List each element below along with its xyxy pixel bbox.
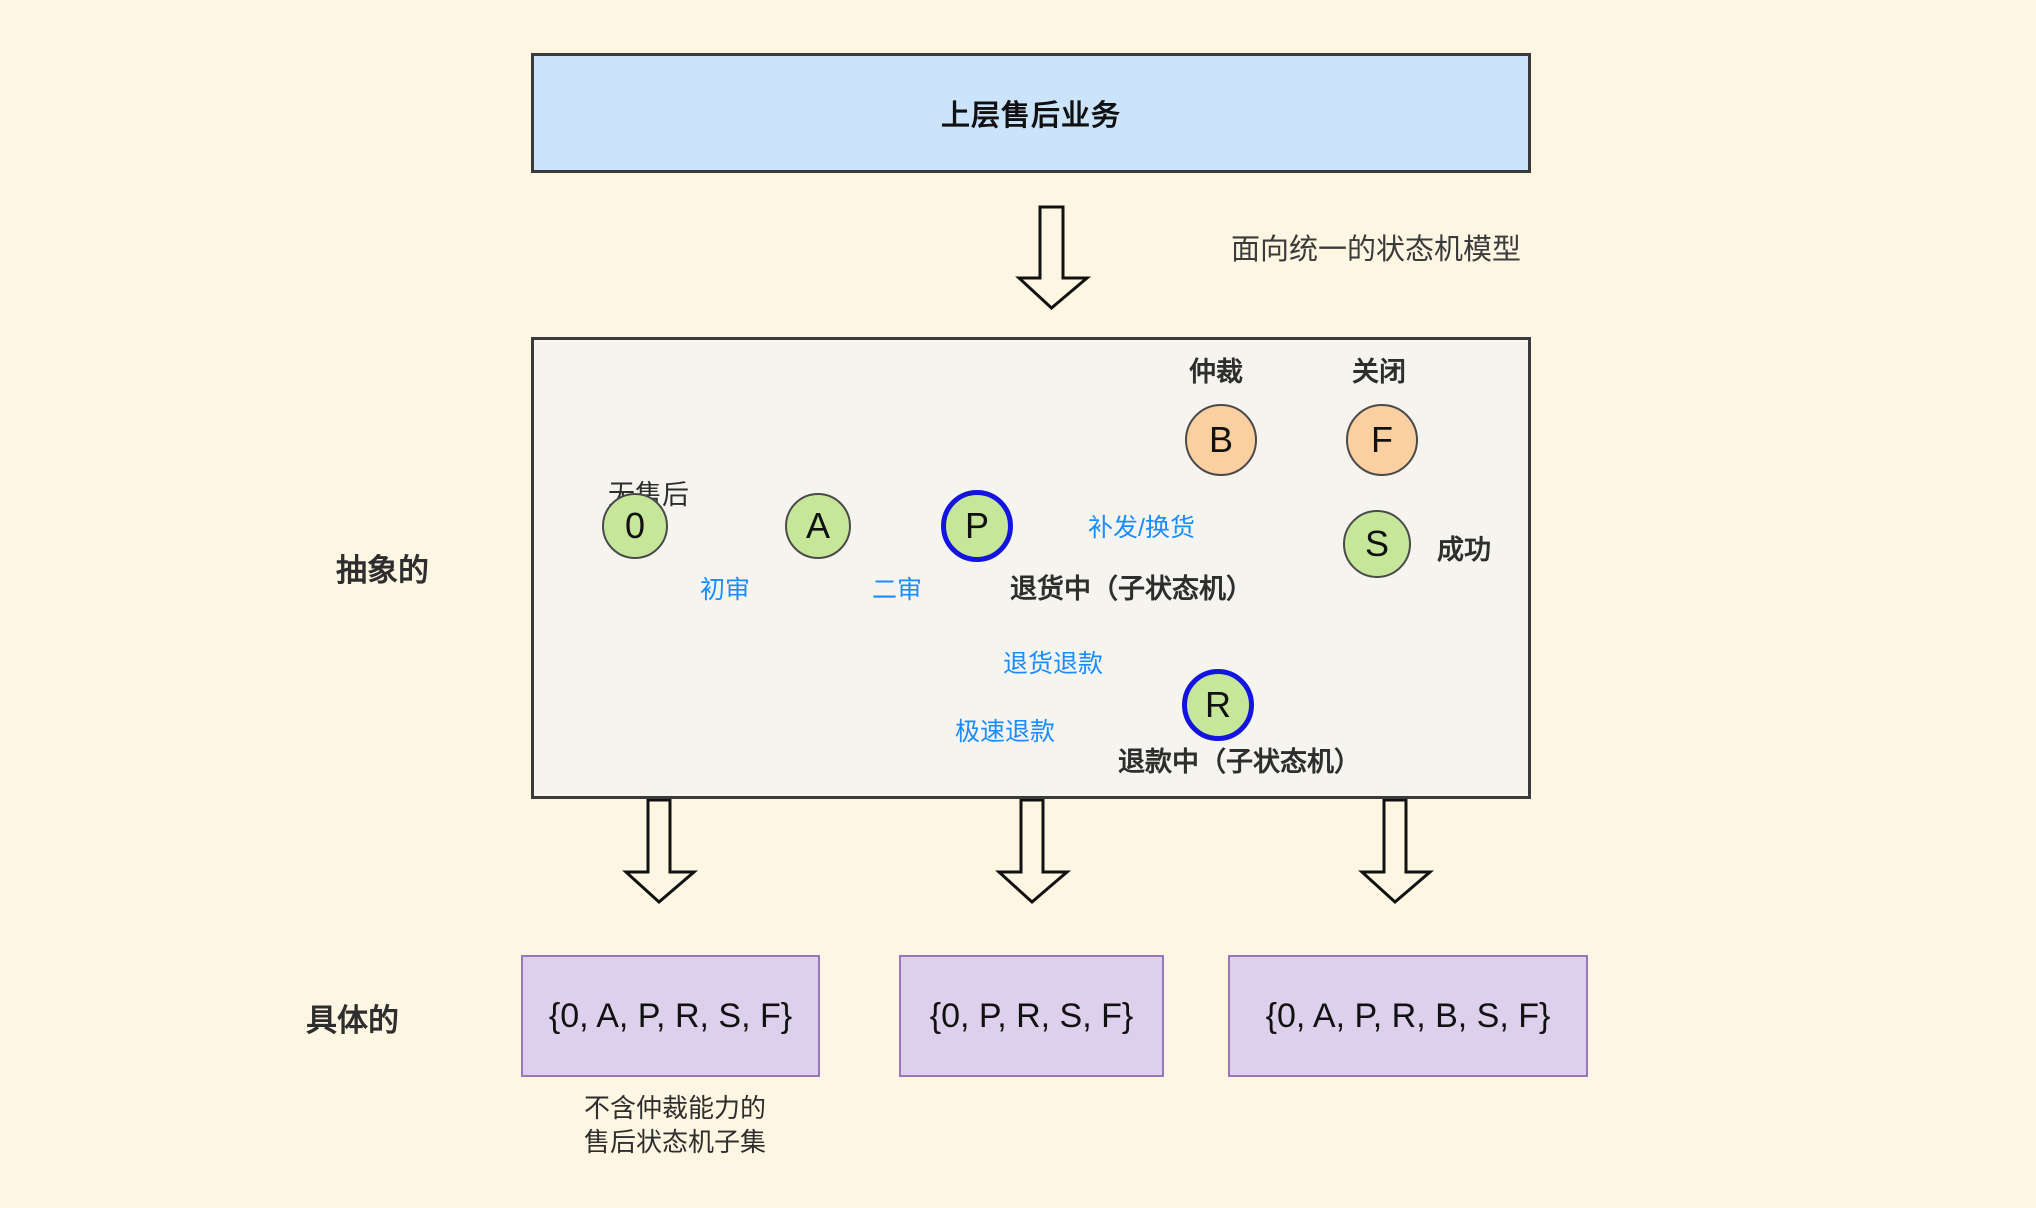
transition-label-first-review: 初审 xyxy=(700,570,750,606)
state-node-P-label: P xyxy=(965,505,989,547)
transition-label-instant-refund: 极速退款 xyxy=(955,712,1055,748)
state-caption-refunding: 退款中（子状态机） xyxy=(1118,740,1361,779)
concrete-set-caption-line2: 售后状态机子集 xyxy=(545,1125,805,1159)
state-node-S[interactable]: S xyxy=(1343,510,1411,578)
concrete-set-box-3[interactable]: {0, A, P, R, B, S, F} xyxy=(1228,955,1588,1077)
state-node-S-label: S xyxy=(1365,523,1389,565)
state-caption-success: 成功 xyxy=(1437,528,1491,567)
block-arrow-sm-to-set-2 xyxy=(999,800,1067,902)
transition-label-reship-exchange: 补发/换货 xyxy=(1088,508,1195,544)
upper-business-label: 上层售后业务 xyxy=(941,92,1121,134)
diagram-canvas: 上层售后业务 面向统一的状态机模型 抽象的 具体的 无售后 仲裁 关闭 退货中（… xyxy=(0,0,2036,1208)
state-node-P[interactable]: P xyxy=(941,490,1013,562)
upper-business-box[interactable]: 上层售后业务 xyxy=(531,53,1531,173)
state-node-F[interactable]: F xyxy=(1346,404,1418,476)
state-node-B[interactable]: B xyxy=(1185,404,1257,476)
axis-label-concrete: 具体的 xyxy=(306,995,399,1040)
state-node-0-label: 0 xyxy=(625,505,645,547)
state-node-F-label: F xyxy=(1371,419,1393,461)
state-node-R-label: R xyxy=(1205,684,1231,726)
concrete-set-text-2: {0, P, R, S, F} xyxy=(930,997,1134,1036)
state-node-B-label: B xyxy=(1209,419,1233,461)
state-node-A[interactable]: A xyxy=(785,493,851,559)
state-node-A-label: A xyxy=(806,505,830,547)
concrete-set-text-3: {0, A, P, R, B, S, F} xyxy=(1266,997,1551,1036)
axis-label-abstract: 抽象的 xyxy=(336,545,429,590)
block-arrow-sm-to-set-3 xyxy=(1362,800,1430,902)
state-node-0[interactable]: 0 xyxy=(602,493,668,559)
transition-label-second-review: 二审 xyxy=(872,570,922,606)
block-arrow-top-to-sm xyxy=(1019,207,1087,308)
concrete-set-caption: 不含仲裁能力的 售后状态机子集 xyxy=(545,1091,805,1160)
concrete-set-caption-line1: 不含仲裁能力的 xyxy=(545,1091,805,1125)
transition-label-return-refund: 退货退款 xyxy=(1003,644,1103,680)
unified-model-annotation: 面向统一的状态机模型 xyxy=(1231,226,1521,268)
concrete-set-box-2[interactable]: {0, P, R, S, F} xyxy=(899,955,1164,1077)
concrete-set-text-1: {0, A, P, R, S, F} xyxy=(549,997,792,1036)
state-caption-returning: 退货中（子状态机） xyxy=(1010,567,1253,606)
state-node-R[interactable]: R xyxy=(1182,669,1254,741)
block-arrow-sm-to-set-1 xyxy=(626,800,694,902)
state-caption-closed: 关闭 xyxy=(1352,350,1406,389)
state-caption-arbitration: 仲裁 xyxy=(1189,350,1243,389)
concrete-set-box-1[interactable]: {0, A, P, R, S, F} xyxy=(521,955,820,1077)
